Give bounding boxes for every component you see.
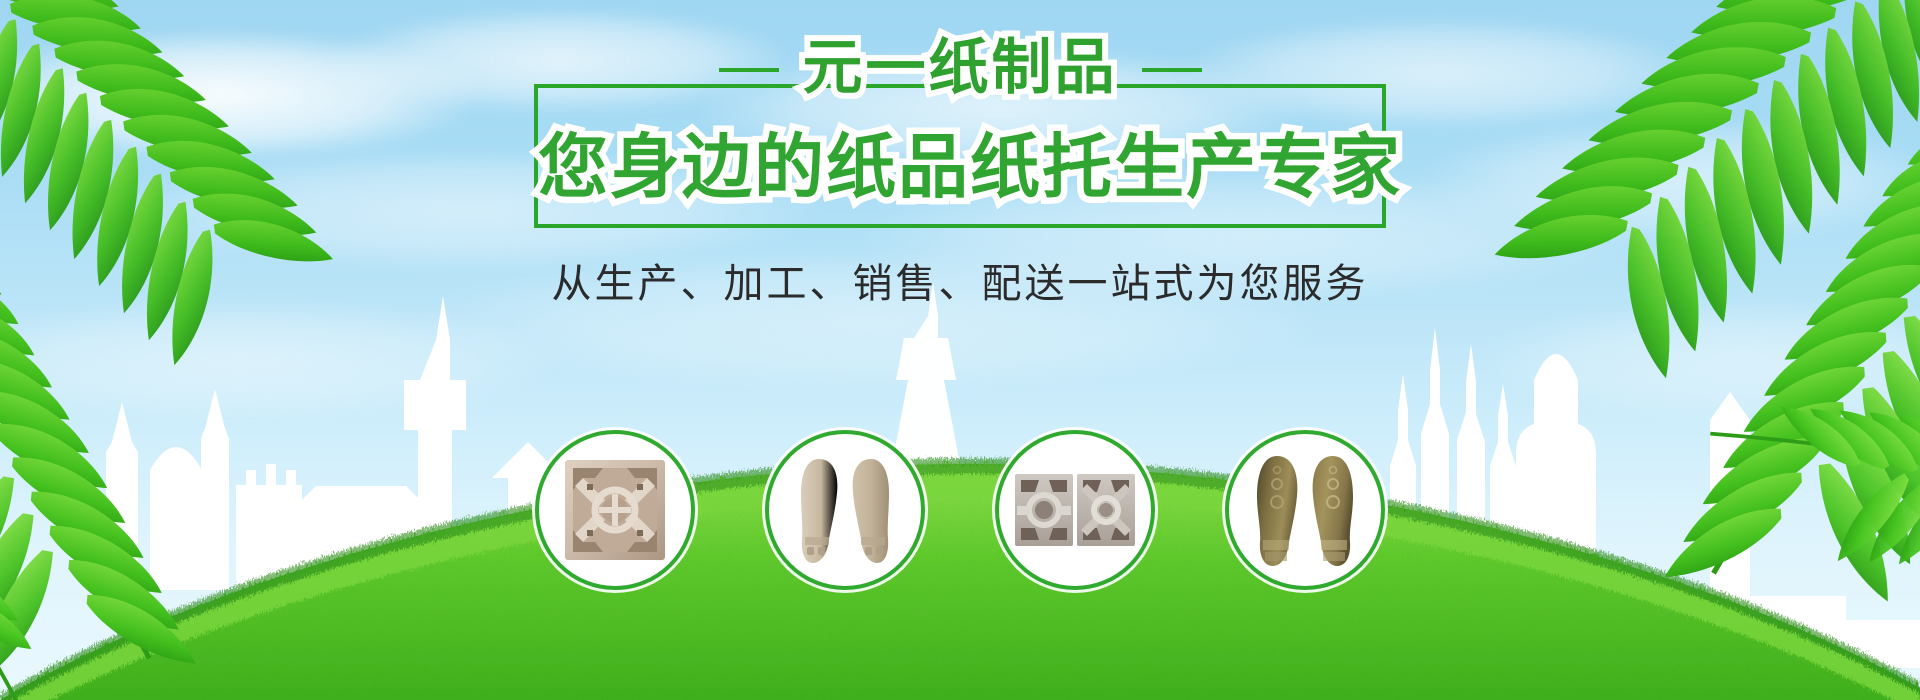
product-showcase: 方形纸浆托盘 — [0, 430, 1920, 590]
pulp-shoe-form-light-icon — [789, 451, 901, 569]
headline-frame: 元一纸制品 您身边的纸品纸托生产专家 — [534, 84, 1386, 228]
pulp-shoe-form-dark-icon — [1247, 450, 1363, 570]
headline-rule-left — [719, 68, 779, 72]
product-circle-pulp-packaging-inserts[interactable]: 纸浆包装内衬 — [995, 430, 1155, 590]
page-subtitle: 您身边的纸品纸托生产专家 — [538, 132, 1382, 202]
product-circle-pulp-shoe-form-dark[interactable]: 深色纸浆鞋撑 — [1225, 430, 1385, 590]
headline-row: 元一纸制品 — [538, 34, 1382, 106]
page-title: 元一纸制品 — [793, 34, 1128, 106]
product-circle-square-pulp-tray[interactable]: 方形纸浆托盘 — [535, 430, 695, 590]
page-tagline: 从生产、加工、销售、配送一站式为您服务 — [552, 262, 1369, 306]
square-pulp-tray-icon — [561, 456, 669, 564]
banner-text-block: 元一纸制品 您身边的纸品纸托生产专家 从生产、加工、销售、配送一站式为您服务 — [0, 84, 1920, 306]
promo-banner: 元一纸制品 您身边的纸品纸托生产专家 从生产、加工、销售、配送一站式为您服务 方… — [0, 0, 1920, 700]
product-circle-pulp-shoe-form-light[interactable]: 浅色纸浆鞋撑 — [765, 430, 925, 590]
pulp-packaging-inserts-icon — [1013, 468, 1137, 552]
headline-rule-right — [1142, 68, 1202, 72]
